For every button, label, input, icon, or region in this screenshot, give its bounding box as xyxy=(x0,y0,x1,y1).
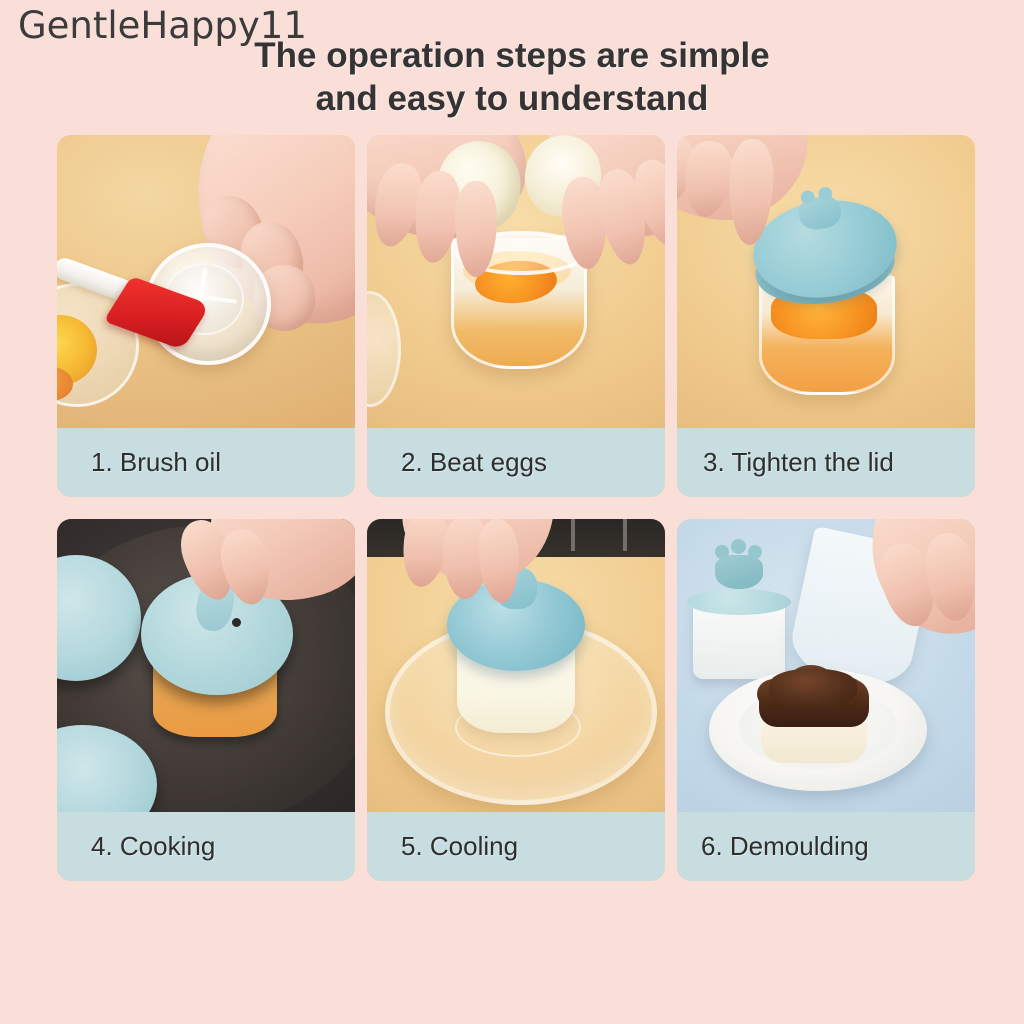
step-caption-label-4: 4. Cooking xyxy=(57,831,215,862)
step-photo-6 xyxy=(677,519,975,812)
watermark-text: GentleHappy11 xyxy=(18,4,307,47)
stove-grate-bar xyxy=(571,519,575,551)
step-card-2[interactable]: 2. Beat eggs xyxy=(367,135,665,497)
step-caption-label-6: 6. Demoulding xyxy=(677,831,869,862)
step-caption-6: 6. Demoulding xyxy=(677,812,975,881)
step-card-5[interactable]: 5. Cooling xyxy=(367,519,665,881)
step-card-1[interactable]: 1. Brush oil xyxy=(57,135,355,497)
step-caption-label-5: 5. Cooling xyxy=(367,831,518,862)
steam-vent-hole xyxy=(232,618,241,627)
paw-toe xyxy=(715,545,729,559)
step-caption-label-3: 3. Tighten the lid xyxy=(677,447,894,478)
step-photo-5 xyxy=(367,519,665,812)
step-caption-1: 1. Brush oil xyxy=(57,428,355,497)
paw-toe xyxy=(748,545,762,559)
pudding-top-surface xyxy=(769,669,857,707)
step-caption-label-2: 2. Beat eggs xyxy=(367,447,547,478)
step-photo-2 xyxy=(367,135,665,428)
step-photo-3 xyxy=(677,135,975,428)
step-caption-4: 4. Cooking xyxy=(57,812,355,881)
step-card-4[interactable]: 4. Cooking xyxy=(57,519,355,881)
page-title-line-2: and easy to understand xyxy=(0,77,1024,120)
steps-grid: 1. Brush oil 2. Beat eggs xyxy=(57,135,975,881)
step-caption-5: 5. Cooling xyxy=(367,812,665,881)
stove-grate-bar xyxy=(623,519,627,551)
paw-knob-icon xyxy=(715,555,763,589)
step-photo-4 xyxy=(57,519,355,812)
step-caption-2: 2. Beat eggs xyxy=(367,428,665,497)
step-card-6[interactable]: 6. Demoulding xyxy=(677,519,975,881)
step-card-3[interactable]: 3. Tighten the lid xyxy=(677,135,975,497)
mould-lid xyxy=(687,589,791,615)
paw-toe xyxy=(731,539,746,554)
step-caption-label-1: 1. Brush oil xyxy=(57,447,221,478)
step-caption-3: 3. Tighten the lid xyxy=(677,428,975,497)
step-photo-1 xyxy=(57,135,355,428)
